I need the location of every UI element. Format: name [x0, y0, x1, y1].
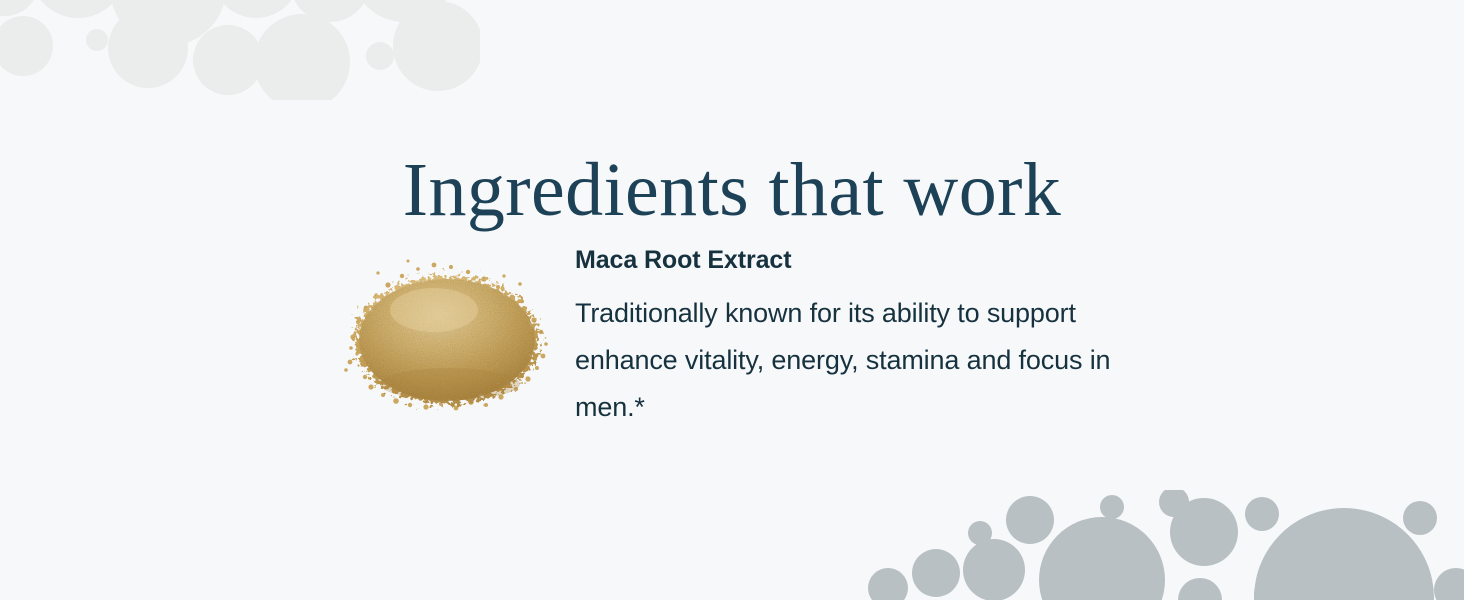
ingredient-text-block: Maca Root Extract Traditionally known fo… — [558, 240, 1196, 431]
section-heading: Ingredients that work — [0, 152, 1464, 228]
ingredient-description: Traditionally known for its ability to s… — [575, 290, 1135, 431]
bubble-cluster-top-left-icon — [0, 0, 480, 100]
ingredient-image — [336, 240, 558, 420]
ingredient-name: Maca Root Extract — [575, 245, 1196, 275]
ingredients-section: Ingredients that work — [0, 0, 1464, 600]
ingredient-item: Maca Root Extract Traditionally known fo… — [336, 240, 1196, 431]
maca-root-powder-image — [338, 258, 556, 413]
bubble-cluster-bottom-right-icon — [844, 490, 1464, 600]
